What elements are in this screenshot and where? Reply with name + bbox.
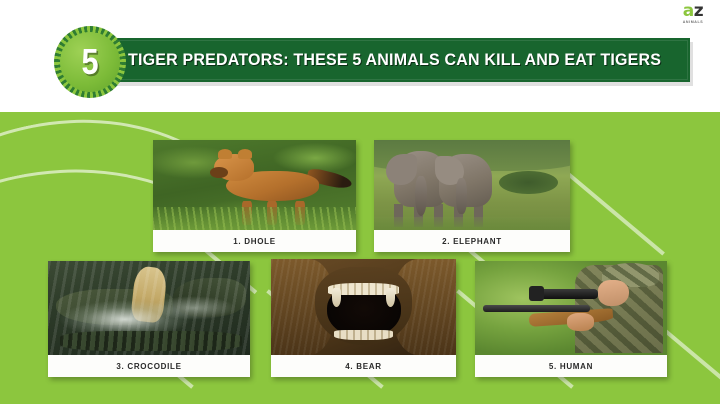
card-caption: 1. DHOLE xyxy=(153,230,356,252)
content-stage: 1. DHOLE 2. ELEPHANT xyxy=(0,112,720,404)
logo-subtitle: ANIMALS xyxy=(676,21,710,25)
crocodile-scene xyxy=(48,261,250,355)
card-caption: 5. HUMAN xyxy=(475,355,667,377)
dhole-photo xyxy=(153,140,356,230)
bear-scene xyxy=(271,259,456,355)
logo-letter-a: a xyxy=(683,1,694,21)
logo-letter-z: z xyxy=(694,1,703,21)
dhole-snout xyxy=(210,167,228,178)
count-badge: 5 xyxy=(54,26,126,98)
predator-card-3[interactable]: 3. CROCODILE xyxy=(48,261,250,377)
elephant-ground xyxy=(374,217,570,230)
predator-card-1[interactable]: 1. DHOLE xyxy=(153,140,356,252)
az-animals-logo[interactable]: az ANIMALS xyxy=(676,3,710,29)
hunter-face xyxy=(598,280,629,306)
human-photo xyxy=(475,261,667,355)
bear-fang xyxy=(386,288,395,307)
predator-card-2[interactable]: 2. ELEPHANT xyxy=(374,140,570,252)
rifle-barrel xyxy=(483,305,591,312)
dhole-ear xyxy=(218,149,232,159)
badge-number: 5 xyxy=(59,26,120,98)
elephant-bush xyxy=(499,171,558,194)
predator-card-5[interactable]: 5. HUMAN xyxy=(475,261,667,377)
bear-photo xyxy=(271,259,456,355)
crocodile-scutes xyxy=(60,331,242,352)
rifle-scope-bell xyxy=(529,286,544,301)
header: az ANIMALS TIGER PREDATORS: THESE 5 ANIM… xyxy=(0,0,720,112)
elephant-ear-1 xyxy=(386,154,417,185)
elephant-trunk-1 xyxy=(415,176,427,216)
page-title: TIGER PREDATORS: THESE 5 ANIMALS CAN KIL… xyxy=(128,38,681,82)
elephant-photo xyxy=(374,140,570,230)
crocodile-photo xyxy=(48,261,250,355)
bear-lower-teeth xyxy=(334,330,393,340)
dhole-grass xyxy=(153,207,356,230)
hunter-hands xyxy=(567,313,594,332)
card-caption: 2. ELEPHANT xyxy=(374,230,570,252)
card-caption: 4. BEAR xyxy=(271,355,456,377)
card-caption: 3. CROCODILE xyxy=(48,355,250,377)
dhole-ear xyxy=(238,149,252,159)
elephant-scene xyxy=(374,140,570,230)
infographic-root: az ANIMALS TIGER PREDATORS: THESE 5 ANIM… xyxy=(0,0,720,404)
dhole-scene xyxy=(153,140,356,230)
swoosh-decoration-10 xyxy=(555,162,665,255)
predator-card-4[interactable]: 4. BEAR xyxy=(271,259,456,377)
logo-mark: az xyxy=(683,1,703,21)
elephant-trunk-2 xyxy=(456,178,467,214)
human-scene xyxy=(475,261,667,355)
